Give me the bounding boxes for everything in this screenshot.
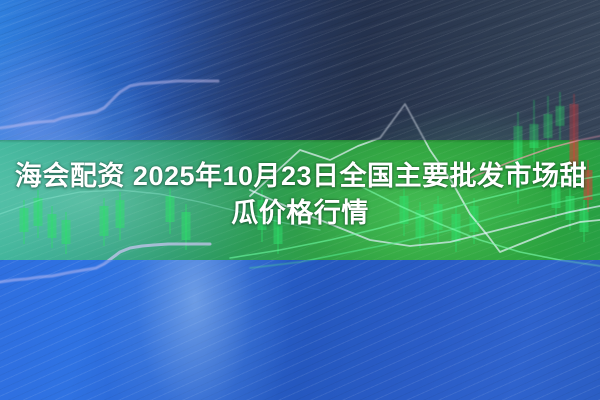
banner-image: 海会配资 2025年10月23日全国主要批发市场甜 瓜价格行情 — [0, 0, 600, 400]
headline-line-1: 海会配资 2025年10月23日全国主要批发市场甜 — [0, 158, 600, 195]
headline-line-2: 瓜价格行情 — [0, 195, 600, 232]
title-band-top-shadow — [0, 140, 600, 143]
headline: 海会配资 2025年10月23日全国主要批发市场甜 瓜价格行情 — [0, 158, 600, 232]
